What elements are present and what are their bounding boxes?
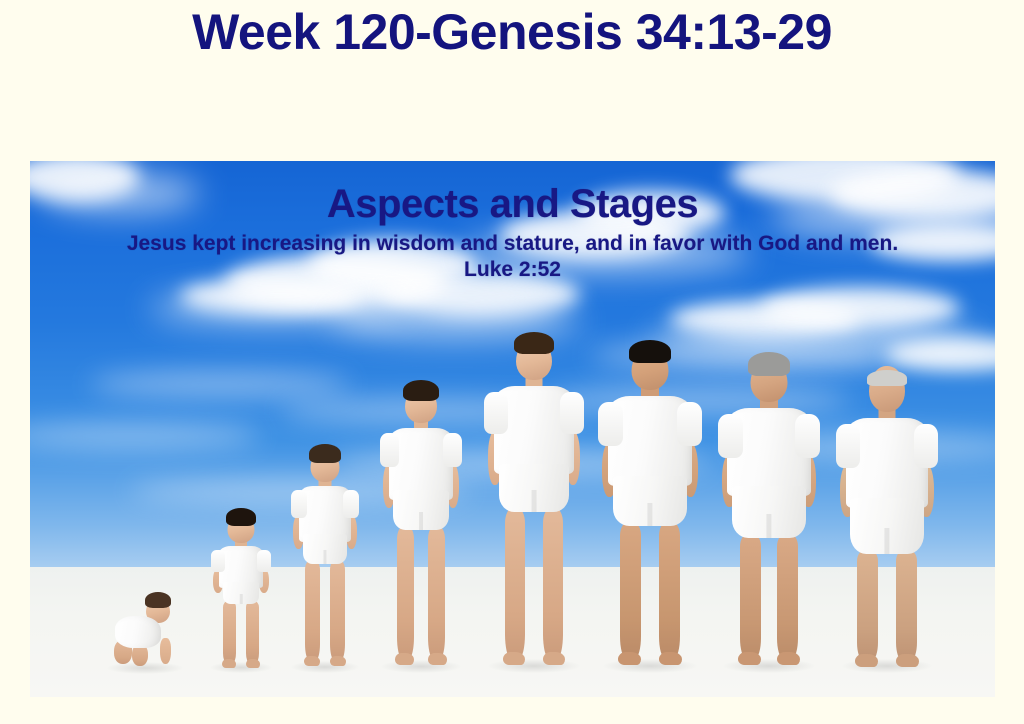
page-title: Week 120-Genesis 34:13-29 — [0, 2, 1024, 62]
shorts — [393, 490, 449, 530]
leg-right — [777, 534, 798, 658]
figure-shadow — [381, 660, 461, 673]
leg-right — [896, 550, 917, 660]
leg-left — [223, 601, 236, 663]
sleeve-left — [836, 424, 860, 468]
arm-right — [160, 638, 171, 664]
leg-left — [857, 550, 878, 660]
life-stages-image: Aspects and Stages Jesus kept increasing… — [30, 161, 995, 697]
foot-right — [543, 652, 565, 665]
sleeve-right — [914, 424, 938, 468]
leg-left — [397, 526, 414, 658]
shorts — [732, 486, 806, 538]
hair-icon — [748, 352, 790, 376]
sleeve-right — [257, 550, 271, 572]
sleeve-left — [598, 402, 623, 446]
sleeve-left — [484, 392, 508, 434]
sleeve-right — [560, 392, 584, 434]
cloud-icon — [90, 371, 350, 397]
hair-icon — [309, 444, 341, 463]
shorts — [303, 534, 347, 564]
shorts — [613, 476, 687, 526]
foot-right — [896, 654, 919, 667]
foot-right — [330, 656, 346, 666]
sleeve-left — [291, 490, 307, 518]
photo-heading: Aspects and Stages — [30, 181, 995, 227]
sleeve-right — [343, 490, 359, 518]
sleeve-left — [718, 414, 743, 458]
figure-toddler — [208, 508, 274, 670]
leg-right — [428, 526, 445, 658]
foot-left — [855, 654, 878, 667]
figure-shadow — [291, 661, 359, 673]
figure-shadow — [488, 659, 580, 673]
leg-right — [659, 522, 680, 658]
sleeve-right — [677, 402, 702, 446]
foot-right — [246, 659, 260, 668]
figure-middle-aged-man — [712, 352, 826, 670]
foot-left — [618, 652, 641, 665]
hair-icon — [629, 340, 671, 363]
hair-icon — [403, 380, 439, 401]
leg-left — [505, 508, 525, 658]
sleeve-right — [795, 414, 820, 458]
figure-shadow — [723, 659, 815, 673]
figure-adult-man — [592, 340, 708, 670]
hair-icon — [514, 332, 554, 354]
torso-shirt — [115, 616, 161, 648]
foot-left — [395, 653, 414, 665]
hair-icon — [867, 370, 907, 386]
hair-icon — [145, 592, 171, 608]
leg-right — [330, 560, 345, 660]
photo-verse-text: Jesus kept increasing in wisdom and stat… — [30, 231, 995, 257]
sleeve-left — [211, 550, 225, 572]
shorts — [499, 464, 569, 512]
figure-shadow — [603, 659, 697, 673]
shorts — [223, 582, 259, 604]
figure-infant-crawling — [108, 592, 182, 670]
foot-right — [428, 653, 447, 665]
sleeve-left — [380, 433, 399, 467]
foot-left — [738, 652, 761, 665]
shorts — [850, 498, 924, 554]
figure-shadow — [210, 662, 272, 673]
leg-left — [620, 522, 641, 658]
photo-verse-reference: Luke 2:52 — [30, 257, 995, 283]
figure-preteen — [375, 380, 467, 670]
leg-left — [305, 560, 320, 660]
figure-young-child — [287, 444, 363, 670]
foot-left — [222, 659, 236, 668]
sleeve-right — [443, 433, 462, 467]
foot-left — [503, 652, 525, 665]
leg-right — [246, 601, 259, 663]
leg-left — [740, 534, 761, 658]
foot-right — [777, 652, 800, 665]
figure-teenager — [478, 332, 590, 670]
hair-icon — [226, 508, 256, 526]
foot-left — [304, 656, 320, 666]
leg-right — [543, 508, 563, 658]
foot-right — [659, 652, 682, 665]
figure-elderly-man — [830, 364, 944, 670]
